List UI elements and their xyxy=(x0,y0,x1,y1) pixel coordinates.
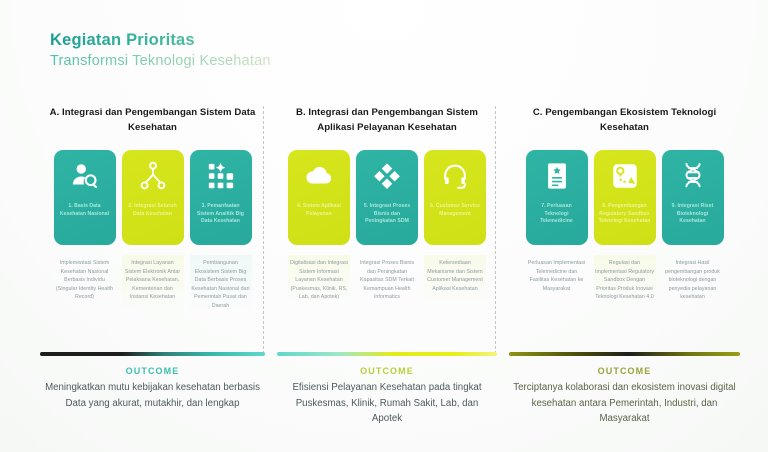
card-c-2-label: 8. Pengembangan Regulatory Sandbox Tekno… xyxy=(598,203,652,226)
card-a-3[interactable]: 3. Pemanfaatan Sistem Analitik Big Data … xyxy=(190,150,252,245)
outcome-c-label: OUTCOME xyxy=(509,366,740,376)
outcome-b-bar xyxy=(277,352,497,356)
desc-c-2: Regulasi dan Implementasi Regulatory San… xyxy=(594,255,656,302)
map-route-icon xyxy=(610,161,640,191)
column-b-cards: 4. Sistem Aplikasi Pelayanan 5. Integras… xyxy=(277,150,497,245)
desc-b-3: Ketersediaan Mekanisme dan Sistem Custom… xyxy=(424,255,486,302)
dna-icon xyxy=(678,161,708,191)
outcomes-container: OUTCOME Meningkatkan mutu kebijakan kese… xyxy=(40,352,740,427)
column-c: C. Pengembangan Ekosistem Teknologi Kese… xyxy=(497,106,740,310)
grid-apps-icon xyxy=(206,161,236,191)
desc-b-1: Digitalisasi dan Integrasi Sistem Inform… xyxy=(288,255,350,302)
infographic-page: Kegiatan Prioritas Transformsi Teknologi… xyxy=(0,0,768,452)
diamond-grid-icon xyxy=(372,161,402,191)
card-b-2[interactable]: 5. Integrasi Proses Bisnis dan Peningkat… xyxy=(356,150,418,245)
card-c-1-label: 7. Perluasan Teknologi Telemedicine xyxy=(530,203,584,226)
cloud-icon xyxy=(304,161,334,191)
card-a-2-label: 2. Integrasi Seluruh Data Kesehatan xyxy=(126,203,180,218)
outcome-a: OUTCOME Meningkatkan mutu kebijakan kese… xyxy=(40,352,265,427)
page-subtitle: Transformsi Teknologi Kesehatan xyxy=(50,52,271,72)
column-a-cards: 1. Basis Data Kesehatan Nasional 2. Inte… xyxy=(40,150,265,245)
outcome-a-label: OUTCOME xyxy=(40,366,265,376)
outcome-b-text: Efisiensi Pelayanan Kesehatan pada tingk… xyxy=(277,380,497,427)
desc-a-2: Integrasi Layanan Sistem Elektronik Anta… xyxy=(122,255,184,310)
card-b-1[interactable]: 4. Sistem Aplikasi Pelayanan xyxy=(288,150,350,245)
card-b-2-label: 5. Integrasi Proses Bisnis dan Peningkat… xyxy=(360,203,414,226)
card-b-1-label: 4. Sistem Aplikasi Pelayanan xyxy=(292,203,346,218)
column-a-heading: A. Integrasi dan Pengembangan Sistem Dat… xyxy=(40,106,265,140)
user-search-icon xyxy=(70,161,100,191)
network-share-icon xyxy=(138,161,168,191)
column-b: B. Integrasi dan Pengembangan Sistem Apl… xyxy=(265,106,497,310)
card-c-3-label: 9. Integrasi Riset Bioteknologi Kesehata… xyxy=(666,203,720,226)
card-a-3-label: 3. Pemanfaatan Sistem Analitik Big Data … xyxy=(194,203,248,226)
column-a: A. Integrasi dan Pengembangan Sistem Dat… xyxy=(40,106,265,310)
column-b-descriptions: Digitalisasi dan Integrasi Sistem Inform… xyxy=(277,255,497,302)
columns-container: A. Integrasi dan Pengembangan Sistem Dat… xyxy=(40,106,740,310)
column-c-cards: 7. Perluasan Teknologi Telemedicine 8. P… xyxy=(509,150,740,245)
certificate-document-icon xyxy=(542,161,572,191)
outcome-b-label: OUTCOME xyxy=(277,366,497,376)
column-b-heading: B. Integrasi dan Pengembangan Sistem Apl… xyxy=(277,106,497,140)
card-a-1[interactable]: 1. Basis Data Kesehatan Nasional xyxy=(54,150,116,245)
card-c-3[interactable]: 9. Integrasi Riset Bioteknologi Kesehata… xyxy=(662,150,724,245)
desc-b-2: Integrasi Proses Bisnis dan Peningkatan … xyxy=(356,255,418,302)
desc-a-3: Pembangunan Ekosistem Sistem Big Data Be… xyxy=(190,255,252,310)
card-c-1[interactable]: 7. Perluasan Teknologi Telemedicine xyxy=(526,150,588,245)
outcome-c: OUTCOME Terciptanya kolaborasi dan ekosi… xyxy=(497,352,740,427)
headset-support-icon xyxy=(440,161,470,191)
card-b-3[interactable]: 6. Customer Service Management xyxy=(424,150,486,245)
column-a-descriptions: Implementasi Sistem Kesehatan Nasional B… xyxy=(40,255,265,310)
outcome-a-text: Meningkatkan mutu kebijakan kesehatan be… xyxy=(40,380,265,411)
outcome-c-text: Terciptanya kolaborasi dan ekosistem ino… xyxy=(509,380,740,427)
outcome-a-bar xyxy=(40,352,265,356)
card-a-2[interactable]: 2. Integrasi Seluruh Data Kesehatan xyxy=(122,150,184,245)
page-title: Kegiatan Prioritas xyxy=(50,30,271,51)
title-block: Kegiatan Prioritas Transformsi Teknologi… xyxy=(50,30,271,71)
card-c-2[interactable]: 8. Pengembangan Regulatory Sandbox Tekno… xyxy=(594,150,656,245)
desc-c-1: Perluasan Implementasi Telemedicine dan … xyxy=(526,255,588,302)
column-c-heading: C. Pengembangan Ekosistem Teknologi Kese… xyxy=(509,106,740,140)
desc-a-1: Implementasi Sistem Kesehatan Nasional B… xyxy=(54,255,116,310)
card-b-3-label: 6. Customer Service Management xyxy=(428,203,482,218)
desc-c-3: Integrasi Hasil pengembangan produk biot… xyxy=(662,255,724,302)
column-c-descriptions: Perluasan Implementasi Telemedicine dan … xyxy=(509,255,740,302)
outcome-c-bar xyxy=(509,352,740,356)
outcome-b: OUTCOME Efisiensi Pelayanan Kesehatan pa… xyxy=(265,352,497,427)
card-a-1-label: 1. Basis Data Kesehatan Nasional xyxy=(58,203,112,218)
